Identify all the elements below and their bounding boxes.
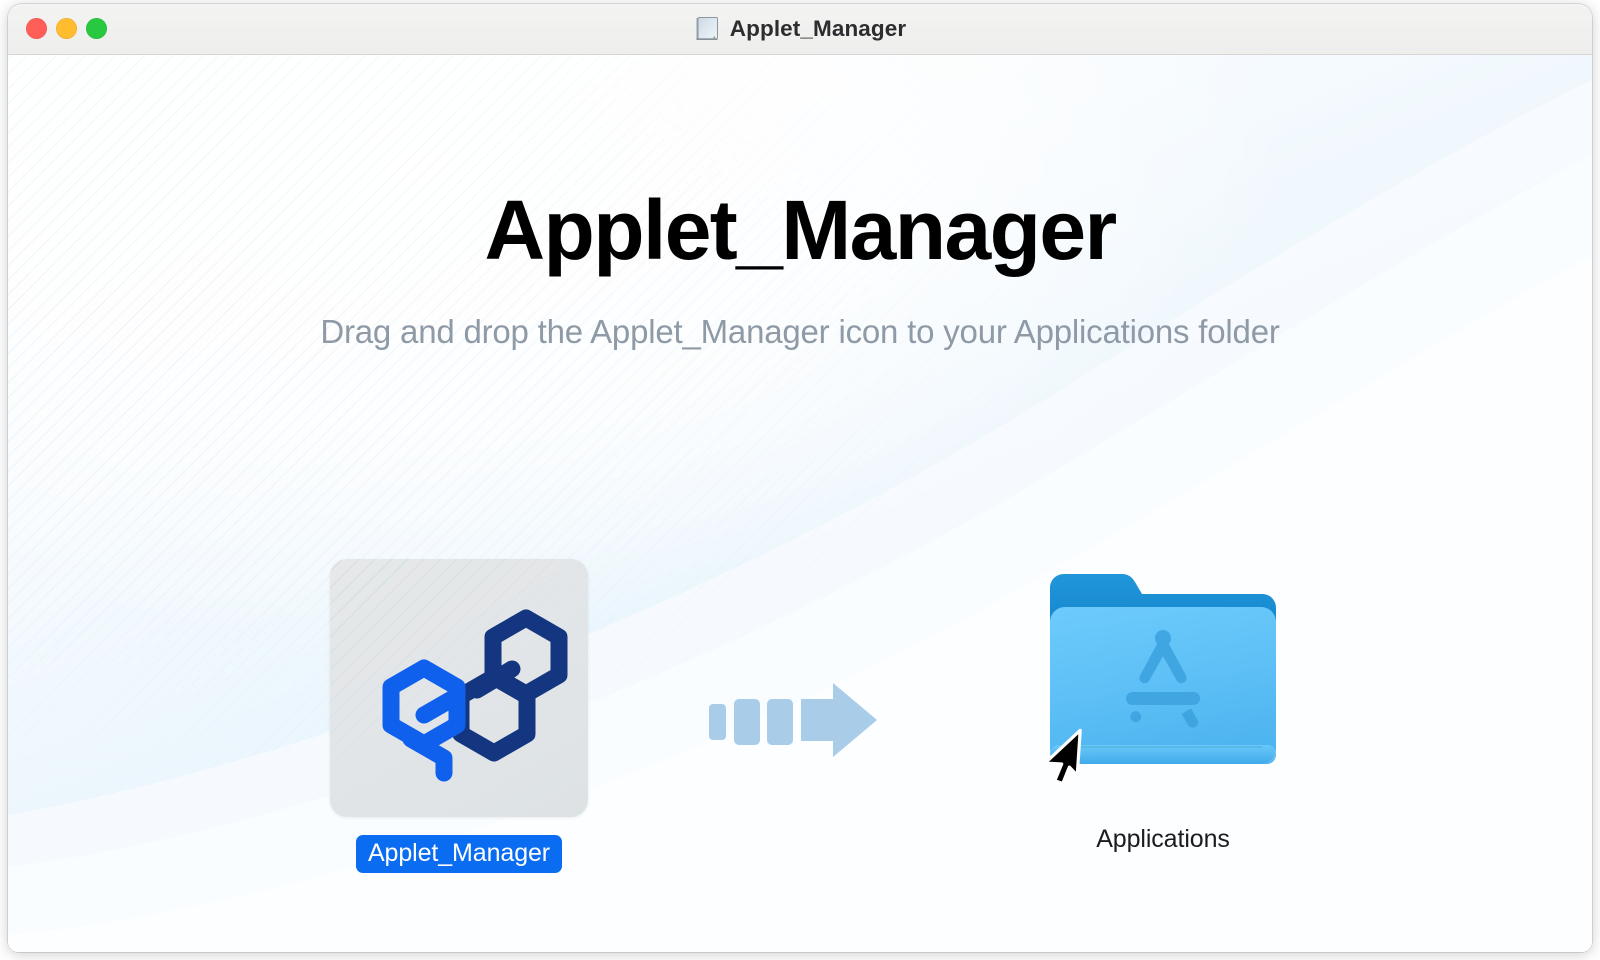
app-icon-label[interactable]: Applet_Manager: [356, 835, 562, 873]
maximize-window-button[interactable]: [86, 18, 107, 39]
installer-canvas: Applet_Manager Drag and drop the Applet_…: [8, 55, 1592, 952]
page-subtitle: Drag and drop the Applet_Manager icon to…: [8, 313, 1592, 351]
window-titlebar: Applet_Manager: [8, 4, 1592, 55]
applications-folder-icon[interactable]: [1034, 563, 1292, 813]
page-title: Applet_Manager: [8, 186, 1592, 274]
window-title: Applet_Manager: [730, 16, 906, 42]
drag-and-drop-area: Applet_Manager: [8, 535, 1592, 865]
window-title-group: Applet_Manager: [8, 4, 1592, 53]
mouse-pointer-icon: [1047, 728, 1093, 790]
close-window-button[interactable]: [26, 18, 47, 39]
chain-link-icon[interactable]: [330, 559, 588, 817]
dmg-installer-window: Applet_Manager Applet_Manager Drag and d…: [8, 4, 1592, 952]
dashed-right-arrow-icon: [705, 680, 880, 760]
applications-folder-label: Applications: [1096, 826, 1230, 852]
applications-folder-item[interactable]: Applications: [1034, 563, 1292, 852]
minimize-window-button[interactable]: [56, 18, 77, 39]
traffic-light-buttons: [26, 4, 107, 53]
disk-drive-icon: [694, 16, 720, 41]
app-icon-item[interactable]: Applet_Manager: [330, 559, 588, 873]
